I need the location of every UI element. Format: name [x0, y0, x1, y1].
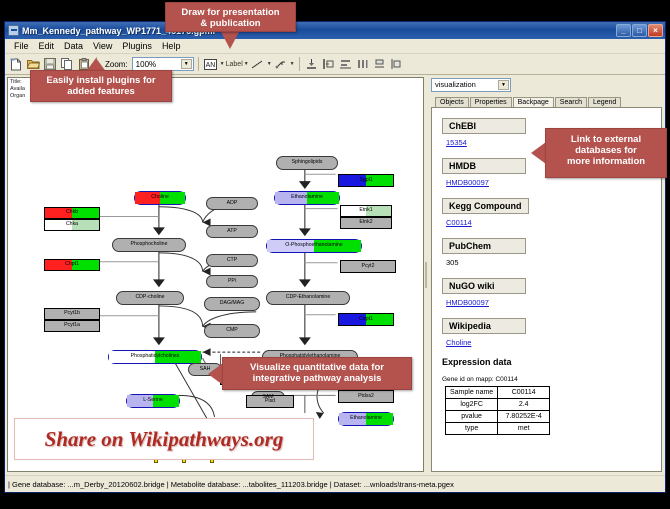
datanode-icon[interactable]: AN: [203, 56, 219, 72]
line-tool-dropdown[interactable]: ▼: [250, 56, 272, 72]
callout-line: databases for: [546, 145, 666, 156]
tab-properties[interactable]: Properties: [470, 97, 512, 107]
node-label: Etnk2: [359, 220, 372, 225]
node-label: Phosphatidylcholines: [131, 354, 180, 359]
arrow-tool-icon[interactable]: [273, 56, 289, 72]
callout-line: Link to external: [546, 134, 666, 145]
callout-draw-pointer: [221, 32, 239, 49]
node-cept1[interactable]: Cept1: [338, 313, 394, 326]
node-label: CTP: [227, 258, 237, 263]
menu-item-plugins[interactable]: Plugins: [117, 40, 157, 52]
node-o-phosphoethanolamine[interactable]: O-Phosphoethanolamine: [266, 239, 362, 253]
node-label: Pcyt1b: [64, 311, 80, 316]
node-label: CDP-choline: [135, 295, 164, 300]
chevron-down-icon[interactable]: ▼: [220, 61, 225, 67]
callout-line: & publication: [166, 18, 295, 29]
node-label: Sphingolipids: [292, 160, 323, 165]
node-label: Pisd: [265, 399, 275, 404]
toolbar-separator-2: [198, 57, 199, 71]
backpage-link-hmdb[interactable]: HMDB00097: [446, 178, 661, 187]
spacer: [442, 307, 661, 316]
node-ptdss2[interactable]: Ptdss2: [338, 390, 394, 403]
table-row: type met: [446, 423, 550, 435]
backpage-heading-kegg: Kegg Compound: [442, 198, 529, 214]
chevron-down-icon[interactable]: ▼: [498, 80, 509, 90]
backpage-link-kegg[interactable]: C00114: [446, 218, 661, 227]
callout-line: more information: [546, 156, 666, 167]
backpage-heading-chebi: ChEBI: [442, 118, 526, 134]
status-text: | Gene database: ...m_Derby_20120602.bri…: [5, 480, 454, 489]
chevron-down-icon[interactable]: ▼: [181, 59, 192, 69]
order-icon[interactable]: [389, 56, 405, 72]
node-label: Choline: [151, 195, 169, 200]
node-ctp[interactable]: CTP: [206, 254, 258, 267]
node-label: Chkb: [66, 210, 78, 215]
menu-bar: File Edit Data View Plugins Help: [5, 39, 665, 54]
callout-line: added features: [31, 86, 171, 97]
menu-item-help[interactable]: Help: [157, 40, 186, 52]
chevron-down-icon[interactable]: ▼: [267, 61, 272, 67]
gene-id-line: Gene id on mapp: C00114: [442, 376, 661, 383]
stack-icon[interactable]: [372, 56, 388, 72]
node-ethanolamine-right[interactable]: Ethanolamine: [338, 412, 394, 426]
cell-value: met: [498, 423, 550, 435]
node-label: Sgpl1: [359, 178, 372, 183]
title-bar: Mm_Kennedy_pathway_WP1771_45176.gpml _ □…: [5, 22, 665, 39]
annotation-dropdown[interactable]: AN ▼: [203, 56, 225, 72]
node-cdp-choline[interactable]: CDP-choline: [116, 291, 184, 305]
backpage-heading-hmdb: HMDB: [442, 158, 526, 174]
app-icon: [8, 25, 19, 36]
backpage-heading-pubchem: PubChem: [442, 238, 526, 254]
node-adp[interactable]: ADP: [206, 197, 258, 210]
tab-legend[interactable]: Legend: [588, 97, 621, 107]
backpage-value-pubchem: 305: [446, 258, 661, 267]
visualization-value: visualization: [435, 80, 476, 89]
node-chkb[interactable]: Chkb: [44, 207, 100, 219]
callout-visualize: Visualize quantitative data for integrat…: [222, 357, 412, 390]
chevron-down-icon[interactable]: ▼: [244, 61, 249, 67]
node-ppi[interactable]: PPi: [206, 275, 258, 288]
pathway-canvas[interactable]: Title: Availa Organ: [7, 77, 424, 472]
node-pcyt2[interactable]: Pcyt2: [340, 260, 396, 273]
node-label: ATP: [227, 229, 237, 234]
node-label: L-Serine: [143, 398, 163, 403]
zoom-select[interactable]: 100% ▼: [132, 57, 194, 71]
callout-share: Share on Wikipathways.org: [14, 418, 314, 460]
cell-label: pvalue: [446, 411, 498, 423]
callout-links-pointer: [531, 142, 546, 164]
expression-data-title: Expression data: [442, 357, 661, 367]
align-bottom-icon[interactable]: [304, 56, 320, 72]
node-ethanolamine-top[interactable]: Ethanolamine: [274, 191, 340, 205]
node-cdp-ethanolamine[interactable]: CDP-Ethanolamine: [266, 291, 350, 305]
backpage-heading-nugo: NuGO wiki: [442, 278, 526, 294]
callout-line: Draw for presentation: [166, 7, 295, 18]
node-label: Chpt1: [65, 262, 79, 267]
backpage-link-nugo[interactable]: HMDB00097: [446, 298, 661, 307]
callout-visualize-pointer: [208, 363, 223, 385]
label-dropdown[interactable]: Label ▼: [226, 61, 249, 68]
node-etnk2[interactable]: Etnk2: [340, 217, 392, 229]
close-button[interactable]: ×: [648, 24, 663, 37]
table-row: pvalue 7.80252E-4: [446, 411, 550, 423]
node-cmp[interactable]: CMP: [204, 324, 260, 338]
callout-line: Visualize quantitative data for: [223, 362, 411, 373]
arrow-tool-dropdown[interactable]: ▼: [273, 56, 295, 72]
tab-search[interactable]: Search: [555, 97, 587, 107]
node-label: Ethanolamine: [291, 195, 323, 200]
maximize-button[interactable]: □: [632, 24, 647, 37]
table-row: log2FC 2.4: [446, 399, 550, 411]
node-choline-top[interactable]: Choline: [134, 191, 186, 205]
node-label: Pcyt1a: [64, 323, 80, 328]
spacer: [442, 187, 661, 196]
svg-text:AN: AN: [206, 62, 216, 69]
node-label: Cept1: [359, 317, 373, 322]
cell-label: log2FC: [446, 399, 498, 411]
distribute-icon[interactable]: [355, 56, 371, 72]
node-label: Chka: [66, 222, 78, 227]
expression-data-table: Sample name C00114 log2FC 2.4 pvalue 7.8…: [445, 386, 550, 435]
status-bar: | Gene database: ...m_Derby_20120602.bri…: [5, 475, 665, 492]
node-sphingolipids[interactable]: Sphingolipids: [276, 156, 338, 170]
visualization-row: visualization ▼: [428, 75, 665, 94]
node-label: Phosphocholine: [131, 242, 168, 247]
backpage-heading-wikipedia: Wikipedia: [442, 318, 526, 334]
node-label: CMP: [226, 328, 238, 333]
node-label: Etnk1: [359, 208, 372, 213]
node-etnk1[interactable]: Etnk1: [340, 205, 392, 217]
line-tool-icon[interactable]: [250, 56, 266, 72]
node-label: CDP-Ethanolamine: [286, 295, 330, 300]
callout-plugins: Easily install plugins for added feature…: [30, 70, 172, 102]
cell-value: C00114: [498, 387, 550, 399]
callout-draw: Draw for presentation & publication: [165, 2, 296, 32]
toolbar-separator-3: [299, 57, 300, 71]
spacer: [442, 227, 661, 236]
node-chka[interactable]: Chka: [44, 219, 100, 231]
node-sgpl1[interactable]: Sgpl1: [338, 174, 394, 187]
node-atp[interactable]: ATP: [206, 225, 258, 238]
node-label: O-Phosphoethanolamine: [285, 243, 342, 248]
menu-item-file[interactable]: File: [9, 40, 34, 52]
cell-value: 7.80252E-4: [498, 411, 550, 423]
zoom-label: Zoom:: [105, 60, 128, 69]
visualization-select[interactable]: visualization ▼: [431, 78, 511, 92]
zoom-value: 100%: [136, 60, 156, 69]
label-dropdown-text: Label: [226, 61, 243, 68]
menu-item-view[interactable]: View: [88, 40, 117, 52]
backpage-link-wikipedia[interactable]: Choline: [446, 338, 661, 347]
align-rows-icon[interactable]: [338, 56, 354, 72]
node-pcyt1a[interactable]: Pcyt1a: [44, 320, 100, 332]
node-phosphocholine[interactable]: Phosphocholine: [112, 238, 186, 252]
chevron-down-icon[interactable]: ▼: [290, 61, 295, 67]
minimize-button[interactable]: _: [616, 24, 631, 37]
node-label: DAG/MAG: [220, 301, 245, 306]
new-file-icon[interactable]: [8, 56, 24, 72]
cell-label: Sample name: [446, 387, 498, 399]
table-row: Sample name C00114: [446, 387, 550, 399]
node-label: Ptdss2: [358, 394, 374, 399]
node-label: Pcyt2: [362, 264, 375, 269]
share-text: Share on Wikipathways.org: [45, 427, 284, 452]
node-dag-mag[interactable]: DAG/MAG: [204, 297, 260, 311]
spacer: [442, 267, 661, 276]
callout-line: Easily install plugins for: [31, 75, 171, 86]
tab-objects[interactable]: Objects: [435, 97, 469, 107]
side-tabs: Objects Properties Backpage Search Legen…: [428, 94, 665, 107]
cell-label: type: [446, 423, 498, 435]
node-label: ADP: [227, 201, 238, 206]
window-controls: _ □ ×: [616, 24, 663, 37]
menu-item-edit[interactable]: Edit: [34, 40, 60, 52]
node-label: PPi: [228, 279, 236, 284]
align-left-icon[interactable]: [321, 56, 337, 72]
callout-links: Link to external databases for more info…: [545, 128, 667, 178]
node-label: Ethanolamine: [350, 416, 382, 421]
node-pcyt1b[interactable]: Pcyt1b: [44, 308, 100, 320]
callout-line: integrative pathway analysis: [223, 373, 411, 384]
node-phosphatidylcholines[interactable]: Phosphatidylcholines: [108, 350, 202, 364]
node-chpt1[interactable]: Chpt1: [44, 259, 100, 271]
cell-value: 2.4: [498, 399, 550, 411]
menu-item-data[interactable]: Data: [59, 40, 88, 52]
node-l-serine-left[interactable]: L-Serine: [126, 394, 180, 408]
